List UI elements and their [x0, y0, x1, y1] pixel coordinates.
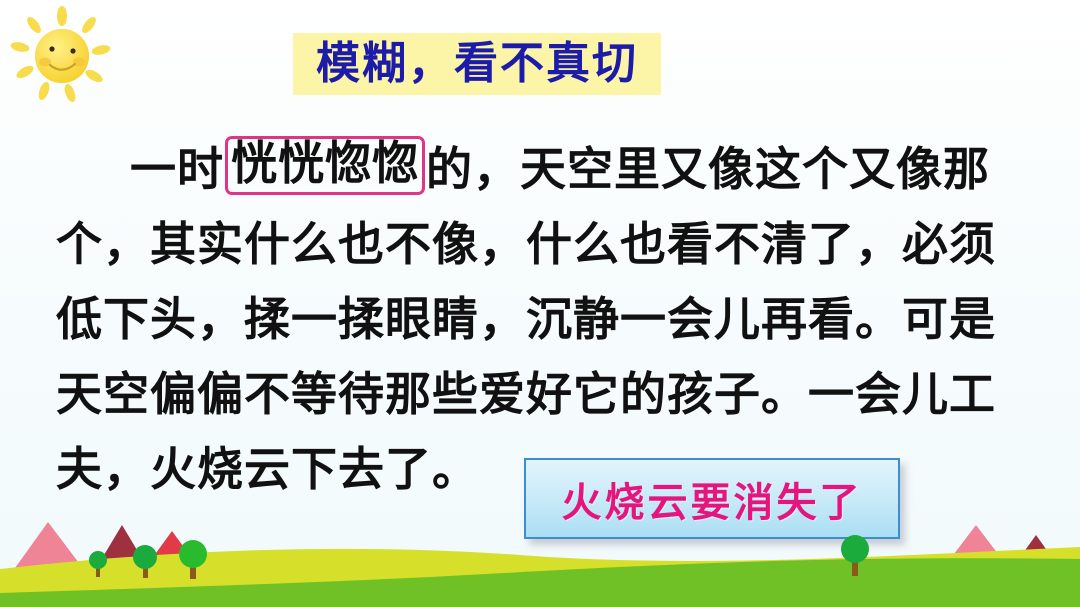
paragraph-body: 一时 恍恍惚惚 的，天空里又像这个又像那 个，其实什么也不像，什么也看不清了，必… [56, 128, 1040, 503]
line-text-before: 天空偏偏不等待那些爱好它的孩子。一会儿工 [56, 358, 996, 424]
paragraph-line: 天空偏偏不等待那些爱好它的孩子。一会儿工 [56, 353, 1040, 428]
line-text-before: 低下头，揉一揉眼睛，沉静一会儿再看。可是 [56, 283, 996, 349]
line-text-before: 一时 [130, 133, 224, 199]
line-text-after: 的，天空里又像这个又像那 [426, 133, 990, 199]
paragraph-line: 低下头，揉一揉眼睛，沉静一会儿再看。可是 [56, 278, 1040, 353]
line-text-before: 个，其实什么也不像，什么也看不清了，必须 [56, 208, 996, 274]
slide-canvas: 模糊，看不真切 一时 恍恍惚惚 的，天空里又像这个又像那 个，其实什么也不像，什… [0, 0, 1080, 607]
title-highlight-banner: 模糊，看不真切 [293, 33, 661, 95]
paragraph-line: 一时 恍恍惚惚 的，天空里又像这个又像那 [56, 128, 1040, 203]
line-text-before: 夫，火烧云下去了。 [56, 433, 479, 499]
landscape-decoration [0, 497, 1080, 607]
highlighted-phrase-box: 恍恍惚惚 [225, 136, 425, 194]
page-title: 模糊，看不真切 [316, 42, 638, 86]
paragraph-line: 个，其实什么也不像，什么也看不清了，必须 [56, 203, 1040, 278]
sun-icon [8, 6, 116, 108]
